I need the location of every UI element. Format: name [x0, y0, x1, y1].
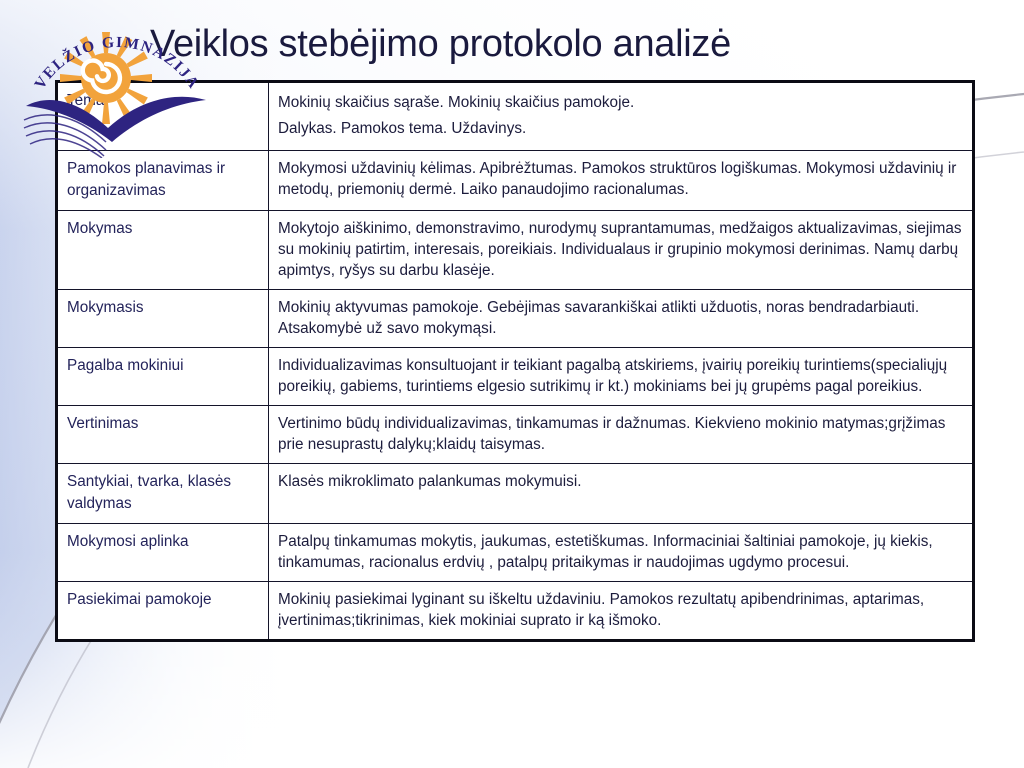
table-row: Pagalba mokiniui Individualizavimas kons… [57, 348, 974, 406]
table-body: Tema Mokinių skaičius sąraše. Mokinių sk… [57, 82, 974, 641]
table-row: Tema Mokinių skaičius sąraše. Mokinių sk… [57, 82, 974, 151]
row-description-cell: Mokinių aktyvumas pamokoje. Gebėjimas sa… [269, 290, 974, 348]
row-category-cell: Vertinimas [57, 406, 269, 464]
table-row: Pasiekimai pamokoje Mokinių pasiekimai l… [57, 582, 974, 641]
row-category-cell: Pagalba mokiniui [57, 348, 269, 406]
description-line: Dalykas. Pamokos tema. Uždavinys. [278, 116, 963, 142]
row-description-cell: Mokytojo aiškinimo, demonstravimo, nurod… [269, 211, 974, 290]
row-description-cell: Individualizavimas konsultuojant ir teik… [269, 348, 974, 406]
row-category-cell: Pasiekimai pamokoje [57, 582, 269, 641]
description-line: Mokinių skaičius sąraše. Mokinių skaičiu… [278, 90, 963, 116]
table-row: Santykiai, tvarka, klasės valdymas Klasė… [57, 464, 974, 524]
table-row: Mokymasis Mokinių aktyvumas pamokoje. Ge… [57, 290, 974, 348]
protocol-analysis-table: Tema Mokinių skaičius sąraše. Mokinių sk… [55, 80, 975, 642]
row-description-cell: Patalpų tinkamumas mokytis, jaukumas, es… [269, 524, 974, 582]
row-description-cell: Mokinių pasiekimai lyginant su iškeltu u… [269, 582, 974, 641]
page-title: Veiklos stebėjimo protokolo analizė [150, 22, 980, 66]
table-row: Mokymosi aplinka Patalpų tinkamumas moky… [57, 524, 974, 582]
row-category-cell: Mokymasis [57, 290, 269, 348]
row-category-cell: Pamokos planavimas ir organizavimas [57, 151, 269, 211]
row-category-cell: Mokymas [57, 211, 269, 290]
table-row: Vertinimas Vertinimo būdų individualizav… [57, 406, 974, 464]
row-description-cell: Mokinių skaičius sąraše. Mokinių skaičiu… [269, 82, 974, 151]
row-category-cell: Mokymosi aplinka [57, 524, 269, 582]
row-category-cell: Tema [57, 82, 269, 151]
table-row: Pamokos planavimas ir organizavimas Moky… [57, 151, 974, 211]
table-row: Mokymas Mokytojo aiškinimo, demonstravim… [57, 211, 974, 290]
row-category-cell: Santykiai, tvarka, klasės valdymas [57, 464, 269, 524]
row-description-cell: Vertinimo būdų individualizavimas, tinka… [269, 406, 974, 464]
row-description-cell: Mokymosi uždavinių kėlimas. Apibrėžtumas… [269, 151, 974, 211]
row-description-cell: Klasės mikroklimato palankumas mokymuisi… [269, 464, 974, 524]
